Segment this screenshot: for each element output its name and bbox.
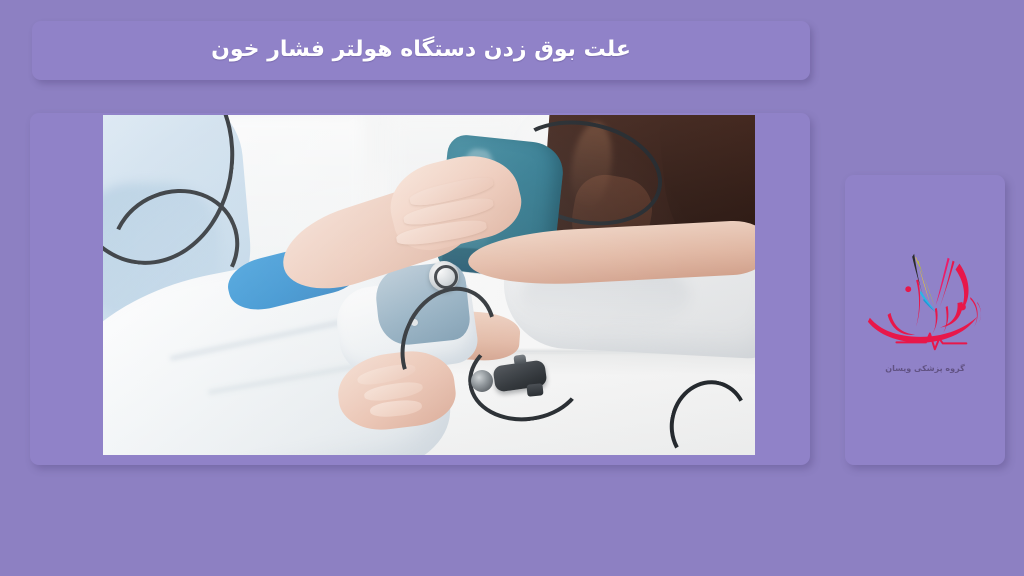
logo-stroke-cyan [919, 291, 936, 311]
logo-sweep-curve [940, 302, 963, 328]
sphygmomanometer-clip [526, 383, 543, 397]
article-image-card [30, 113, 810, 465]
logo-letter-seen-2 [932, 308, 938, 335]
logo-dot-noon [905, 286, 911, 292]
brand-tagline: گروه پزشکی ویسان [885, 364, 964, 373]
logo-letter-seen-1 [943, 306, 949, 334]
brand-logo-card: گروه پزشکی ویسان [845, 175, 1005, 465]
logo-word-baseline [868, 317, 977, 343]
blood-pressure-measurement-photo [103, 115, 755, 455]
logo-letter-vav-1 [977, 302, 981, 323]
logo-dot-ye [959, 303, 966, 310]
brand-logo-wrapper: گروه پزشکی ویسان [845, 243, 1005, 373]
stethoscope-diaphragm-ring [434, 265, 458, 289]
logo-stroke-dark [912, 254, 923, 295]
logo-letter-noon [888, 313, 916, 335]
article-title-bar: علت بوق زدن دستگاه هولتر فشار خون [32, 21, 810, 80]
page-title: علت بوق زدن دستگاه هولتر فشار خون [211, 37, 631, 63]
logo-letter-alef [916, 279, 920, 326]
sphygmomanometer-valve [513, 354, 526, 366]
visan-bird-logo-icon [861, 243, 989, 363]
